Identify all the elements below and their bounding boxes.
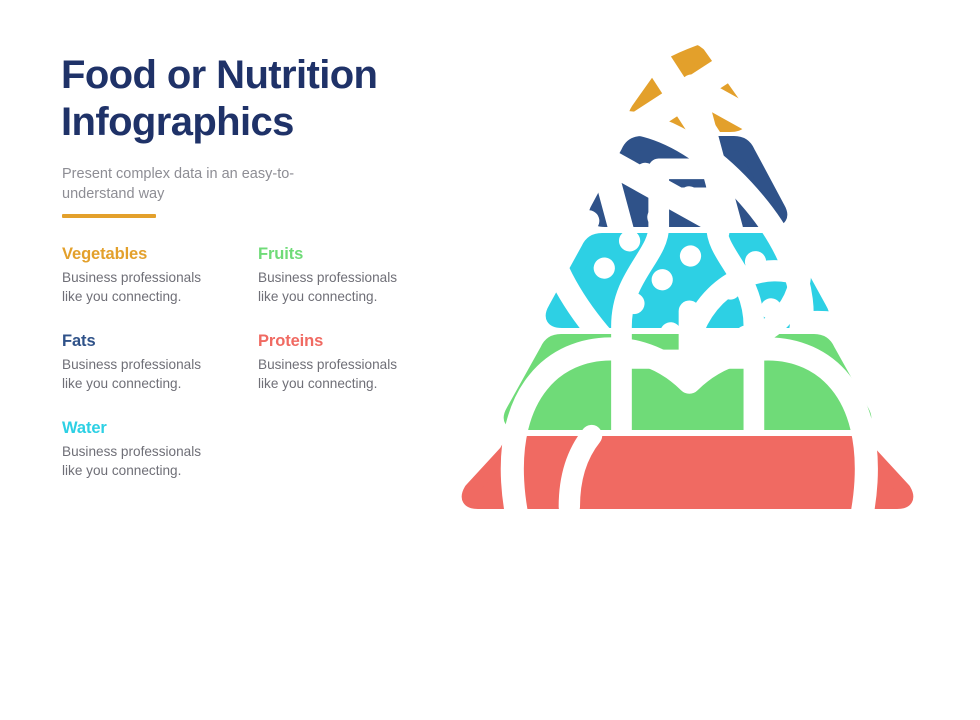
- legend-item-vegetables[interactable]: Vegetables Business professionals like y…: [62, 244, 258, 306]
- legend-row: Water Business professionals like you co…: [62, 418, 422, 480]
- accent-divider: [62, 214, 156, 218]
- apple-icon: [658, 444, 720, 516]
- legend-item-label: Proteins: [258, 331, 410, 351]
- infographic-slide: Food or Nutrition Infographics Present c…: [0, 0, 980, 551]
- legend-item-description: Business professionals like you connecti…: [62, 442, 214, 480]
- pyramid-tier-proteins[interactable]: [430, 40, 960, 520]
- legend-row: Vegetables Business professionals like y…: [62, 244, 422, 306]
- legend-row: Fats Business professionals like you con…: [62, 331, 422, 393]
- legend-item-description: Business professionals like you connecti…: [62, 355, 214, 393]
- page-subtitle: Present complex data in an easy-to-under…: [62, 164, 322, 204]
- legend-item-description: Business professionals like you connecti…: [258, 355, 410, 393]
- legend-item-fruits[interactable]: Fruits Business professionals like you c…: [258, 244, 422, 306]
- food-pyramid-chart: [430, 40, 960, 520]
- legend-item-label: Water: [62, 418, 247, 438]
- legend-item-description: Business professionals like you connecti…: [258, 268, 410, 306]
- legend-item-label: Vegetables: [62, 244, 246, 264]
- legend-item-label: Fats: [62, 331, 246, 351]
- legend-empty-cell: [259, 418, 271, 480]
- legend-row-spacer: [62, 393, 422, 418]
- legend-item-water[interactable]: Water Business professionals like you co…: [62, 418, 259, 480]
- legend: Vegetables Business professionals like y…: [62, 244, 422, 480]
- legend-item-label: Fruits: [258, 244, 410, 264]
- legend-item-description: Business professionals like you connecti…: [62, 268, 214, 306]
- legend-row-spacer: [62, 306, 422, 331]
- legend-item-fats[interactable]: Fats Business professionals like you con…: [62, 331, 258, 393]
- legend-item-proteins[interactable]: Proteins Business professionals like you…: [258, 331, 422, 393]
- page-title: Food or Nutrition Infographics: [61, 52, 421, 146]
- text-panel: Food or Nutrition Infographics Present c…: [0, 0, 440, 551]
